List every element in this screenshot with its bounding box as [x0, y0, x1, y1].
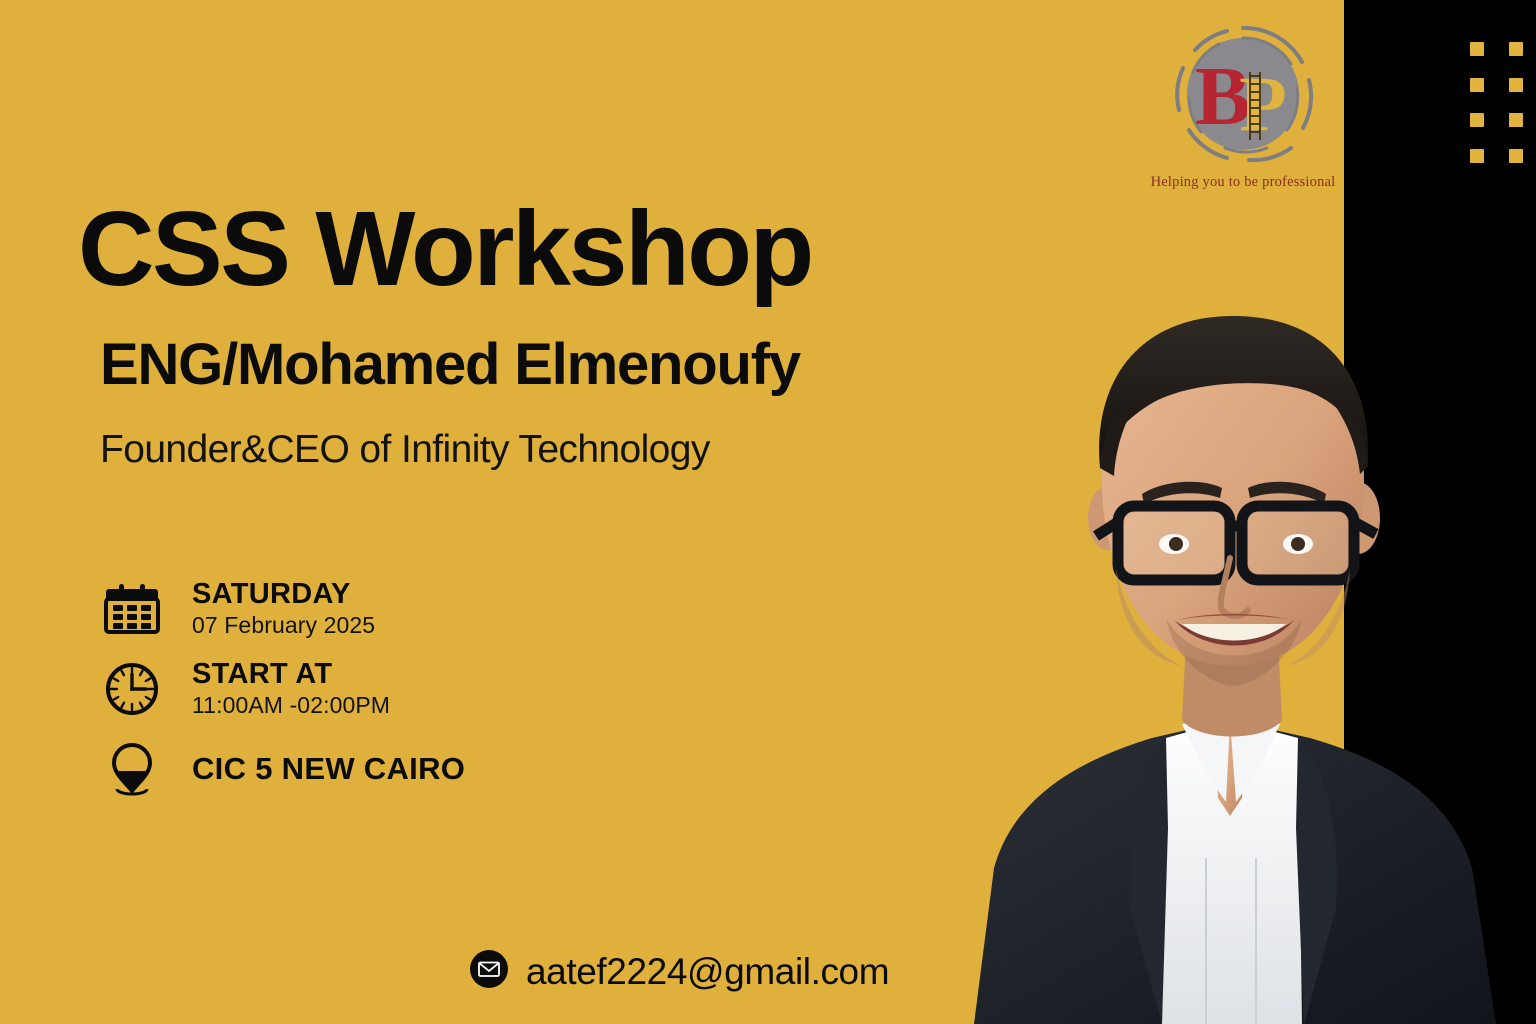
decor-dot [1509, 78, 1523, 92]
page-title: CSS Workshop [78, 196, 1038, 302]
detail-heading: START AT [192, 659, 390, 691]
headline-block: CSS Workshop ENG/Mohamed Elmenoufy Found… [78, 196, 1038, 469]
decor-dot [1509, 42, 1523, 56]
detail-heading: CIC 5 NEW CAIRO [192, 752, 465, 786]
decor-dot [1470, 149, 1484, 163]
email-address: aatef2224@gmail.com [508, 951, 889, 993]
decor-dot [1509, 149, 1523, 163]
poster-canvas: B P Helping you to be professional [0, 0, 1536, 1024]
svg-text:P: P [1239, 60, 1287, 147]
contact-email-row[interactable]: aatef2224@gmail.com [470, 950, 889, 993]
detail-text-location: CIC 5 NEW CAIRO [170, 752, 465, 786]
detail-text-time: START AT 11:00AM -02:00PM [170, 659, 390, 720]
decor-dot [1470, 78, 1484, 92]
location-pin-icon [104, 741, 170, 797]
detail-row-time: START AT 11:00AM -02:00PM [104, 658, 724, 720]
logo-tagline: Helping you to be professional [1148, 174, 1338, 191]
calendar-icon [104, 581, 170, 637]
clock-icon [104, 661, 170, 717]
dot-grid-decoration [1470, 42, 1526, 166]
detail-heading: SATURDAY [192, 579, 375, 611]
event-details-list: SATURDAY 07 February 2025 [104, 578, 724, 818]
detail-subtext: 11:00AM -02:00PM [192, 691, 390, 720]
decor-dot [1470, 113, 1484, 127]
detail-subtext: 07 February 2025 [192, 611, 375, 640]
brand-logo: B P Helping you to be professional [1148, 14, 1338, 196]
speaker-role: Founder&CEO of Infinity Technology [100, 430, 1038, 469]
decor-dot [1509, 113, 1523, 127]
speaker-portrait-photo [930, 268, 1536, 1024]
decor-dot [1470, 42, 1484, 56]
detail-row-date: SATURDAY 07 February 2025 [104, 578, 724, 640]
envelope-icon [470, 950, 508, 993]
bp-monogram-icon: B P [1163, 14, 1323, 174]
detail-row-location: CIC 5 NEW CAIRO [104, 738, 724, 800]
speaker-name: ENG/Mohamed Elmenoufy [100, 336, 1038, 394]
detail-text-date: SATURDAY 07 February 2025 [170, 579, 375, 640]
